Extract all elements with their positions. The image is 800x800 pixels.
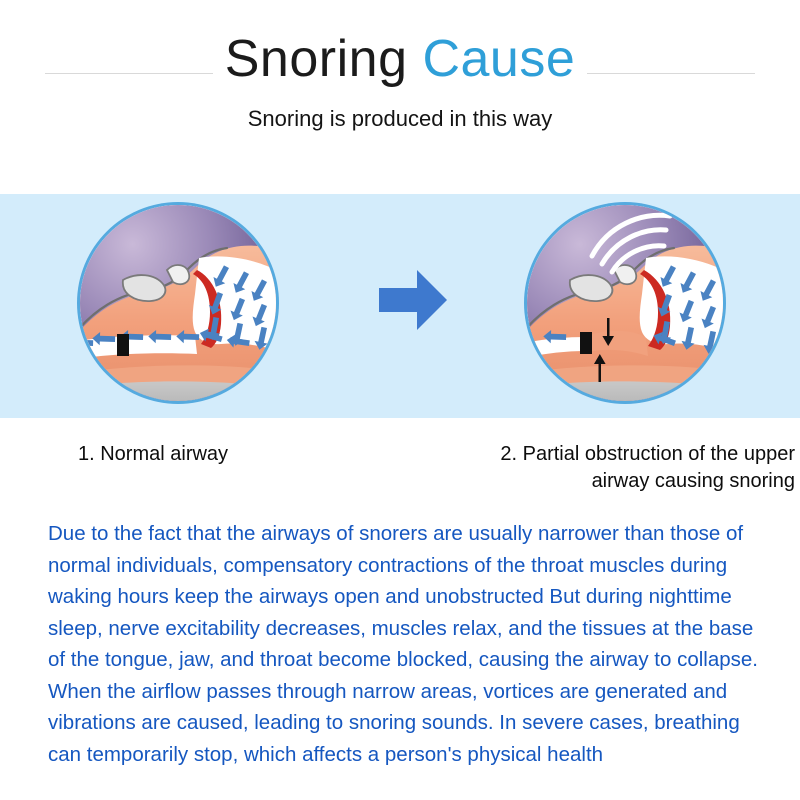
- page-header: Snoring Cause Snoring is produced in thi…: [0, 0, 800, 150]
- page-title-main: Snoring: [225, 30, 408, 88]
- page-title-accent: Cause: [422, 30, 575, 88]
- right-arrow-icon: [377, 266, 449, 334]
- obstructed-airway-diagram: [518, 196, 732, 410]
- body-paragraph: Due to the fact that the airways of snor…: [48, 518, 760, 770]
- page-subtitle: Snoring is produced in this way: [0, 106, 800, 132]
- marker-left: [117, 334, 129, 356]
- caption-obstructed-airway: 2. Partial obstruction of the upper airw…: [430, 441, 795, 495]
- marker-far-left: [77, 338, 85, 356]
- marker-left: [580, 332, 592, 354]
- caption-normal-airway: 1. Normal airway: [78, 441, 378, 468]
- page-title: Snoring Cause: [0, 28, 800, 90]
- caption-obstructed-line2: airway causing snoring: [430, 468, 795, 495]
- caption-obstructed-line1: 2. Partial obstruction of the upper: [430, 441, 795, 468]
- marker-far-left: [522, 338, 531, 356]
- normal-airway-diagram: [71, 196, 285, 410]
